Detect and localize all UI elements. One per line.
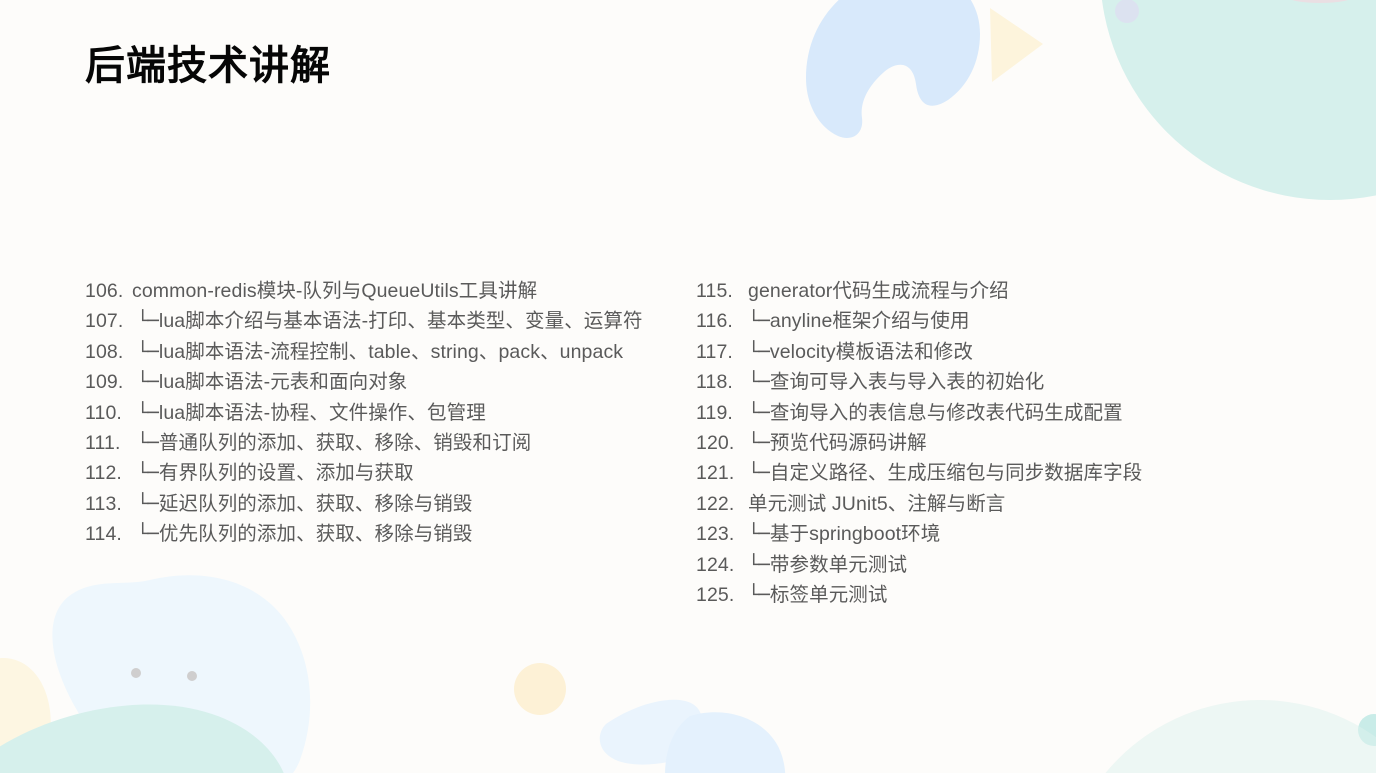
- tree-connector-icon: └─: [131, 495, 158, 514]
- page-title: 后端技术讲解: [85, 44, 331, 89]
- toc-item[interactable]: 106. common-redis模块-队列与QueueUtils工具讲解: [85, 274, 665, 304]
- toc-item-label: 优先队列的添加、获取、移除与销毁: [158, 517, 473, 546]
- toc-item[interactable]: 123. └─ 基于springboot环境: [696, 517, 1256, 547]
- tree-connector-icon: └─: [742, 586, 769, 605]
- toc-item-label: 单元测试 JUnit5、注解与断言: [742, 487, 1005, 516]
- toc-item[interactable]: 115. generator代码生成流程与介绍: [696, 274, 1256, 304]
- toc-item[interactable]: 119. └─ 查询导入的表信息与修改表代码生成配置: [696, 396, 1256, 426]
- toc-item[interactable]: 122. 单元测试 JUnit5、注解与断言: [696, 487, 1256, 517]
- toc-item[interactable]: 116. └─ anyline框架介绍与使用: [696, 304, 1256, 334]
- tree-connector-icon: └─: [742, 373, 769, 392]
- tree-connector-icon: └─: [742, 312, 769, 331]
- toc-item[interactable]: 124. └─ 带参数单元测试: [696, 548, 1256, 578]
- tree-connector-icon: └─: [742, 343, 769, 362]
- tree-connector-icon: └─: [131, 373, 158, 392]
- toc-item[interactable]: 114. └─ 优先队列的添加、获取、移除与销毁: [85, 517, 665, 547]
- tree-connector-icon: └─: [742, 464, 769, 483]
- tree-connector-icon: └─: [131, 312, 158, 331]
- toc-item-number: 123.: [696, 523, 742, 546]
- toc-item[interactable]: 110. └─ lua脚本语法-协程、文件操作、包管理: [85, 396, 665, 426]
- toc-item-label: velocity模板语法和修改: [769, 335, 973, 364]
- tree-connector-icon: └─: [742, 404, 769, 423]
- toc-item-number: 125.: [696, 584, 742, 607]
- toc-item-number: 116.: [696, 310, 742, 333]
- toc-item-label: 基于springboot环境: [769, 517, 940, 546]
- toc-item-number: 119.: [696, 402, 742, 425]
- toc-item-label: 延迟队列的添加、获取、移除与销毁: [158, 487, 473, 516]
- toc-column-left: 106. common-redis模块-队列与QueueUtils工具讲解 10…: [85, 274, 665, 548]
- toc-item-label: lua脚本语法-流程控制、table、string、pack、unpack: [158, 335, 623, 364]
- toc-item[interactable]: 112. └─ 有界队列的设置、添加与获取: [85, 456, 665, 486]
- tree-connector-icon: └─: [742, 434, 769, 453]
- toc-item-label: 查询导入的表信息与修改表代码生成配置: [769, 396, 1123, 425]
- toc-item[interactable]: 111. └─ 普通队列的添加、获取、移除、销毁和订阅: [85, 426, 665, 456]
- toc-item-number: 107.: [85, 310, 131, 333]
- tree-connector-icon: └─: [131, 525, 158, 544]
- toc-item-label: 有界队列的设置、添加与获取: [158, 456, 414, 485]
- toc-item-label: 带参数单元测试: [769, 548, 907, 577]
- toc-item-number: 110.: [85, 402, 131, 425]
- toc-item-label: 预览代码源码讲解: [769, 426, 927, 455]
- toc-item-number: 109.: [85, 371, 131, 394]
- toc-item[interactable]: 121. └─ 自定义路径、生成压缩包与同步数据库字段: [696, 456, 1256, 486]
- toc-item-number: 120.: [696, 432, 742, 455]
- toc-item[interactable]: 113. └─ 延迟队列的添加、获取、移除与销毁: [85, 487, 665, 517]
- toc-item-label: lua脚本语法-协程、文件操作、包管理: [158, 396, 486, 425]
- toc-item-number: 115.: [696, 280, 742, 303]
- toc-item-number: 121.: [696, 462, 742, 485]
- toc-item-label: generator代码生成流程与介绍: [742, 274, 1009, 303]
- toc-item-number: 112.: [85, 462, 131, 485]
- toc-item-label: lua脚本语法-元表和面向对象: [158, 365, 408, 394]
- toc-item[interactable]: 118. └─ 查询可导入表与导入表的初始化: [696, 365, 1256, 395]
- tree-connector-icon: └─: [131, 434, 158, 453]
- toc-item-label: 查询可导入表与导入表的初始化: [769, 365, 1044, 394]
- toc-item[interactable]: 109. └─ lua脚本语法-元表和面向对象: [85, 365, 665, 395]
- tree-connector-icon: └─: [131, 343, 158, 362]
- toc-item-number: 124.: [696, 554, 742, 577]
- toc-item-label: common-redis模块-队列与QueueUtils工具讲解: [131, 274, 537, 303]
- toc-item-number: 118.: [696, 371, 742, 394]
- toc-column-right: 115. generator代码生成流程与介绍 116. └─ anyline框…: [696, 274, 1256, 608]
- tree-connector-icon: └─: [742, 525, 769, 544]
- tree-connector-icon: └─: [742, 556, 769, 575]
- toc-item-number: 122.: [696, 493, 742, 516]
- toc-item[interactable]: 125. └─ 标签单元测试: [696, 578, 1256, 608]
- tree-connector-icon: └─: [131, 404, 158, 423]
- toc-item-number: 108.: [85, 341, 131, 364]
- toc-item-label: 自定义路径、生成压缩包与同步数据库字段: [769, 456, 1142, 485]
- toc-item-number: 111.: [85, 432, 131, 455]
- toc-item-label: 普通队列的添加、获取、移除、销毁和订阅: [158, 426, 531, 455]
- toc-item-label: anyline框架介绍与使用: [769, 304, 970, 333]
- toc-item-number: 106.: [85, 280, 131, 303]
- toc-item[interactable]: 117. └─ velocity模板语法和修改: [696, 335, 1256, 365]
- toc-item[interactable]: 120. └─ 预览代码源码讲解: [696, 426, 1256, 456]
- toc-item-number: 113.: [85, 493, 131, 516]
- toc-item-number: 114.: [85, 523, 131, 546]
- toc-item[interactable]: 107. └─ lua脚本介绍与基本语法-打印、基本类型、变量、运算符: [85, 304, 665, 334]
- tree-connector-icon: └─: [131, 464, 158, 483]
- toc-item-label: 标签单元测试: [769, 578, 888, 607]
- slide-content: 后端技术讲解 106. common-redis模块-队列与QueueUtils…: [0, 0, 1376, 773]
- toc-item-label: lua脚本介绍与基本语法-打印、基本类型、变量、运算符: [158, 304, 643, 333]
- toc-item[interactable]: 108. └─ lua脚本语法-流程控制、table、string、pack、u…: [85, 335, 665, 365]
- toc-item-number: 117.: [696, 341, 742, 364]
